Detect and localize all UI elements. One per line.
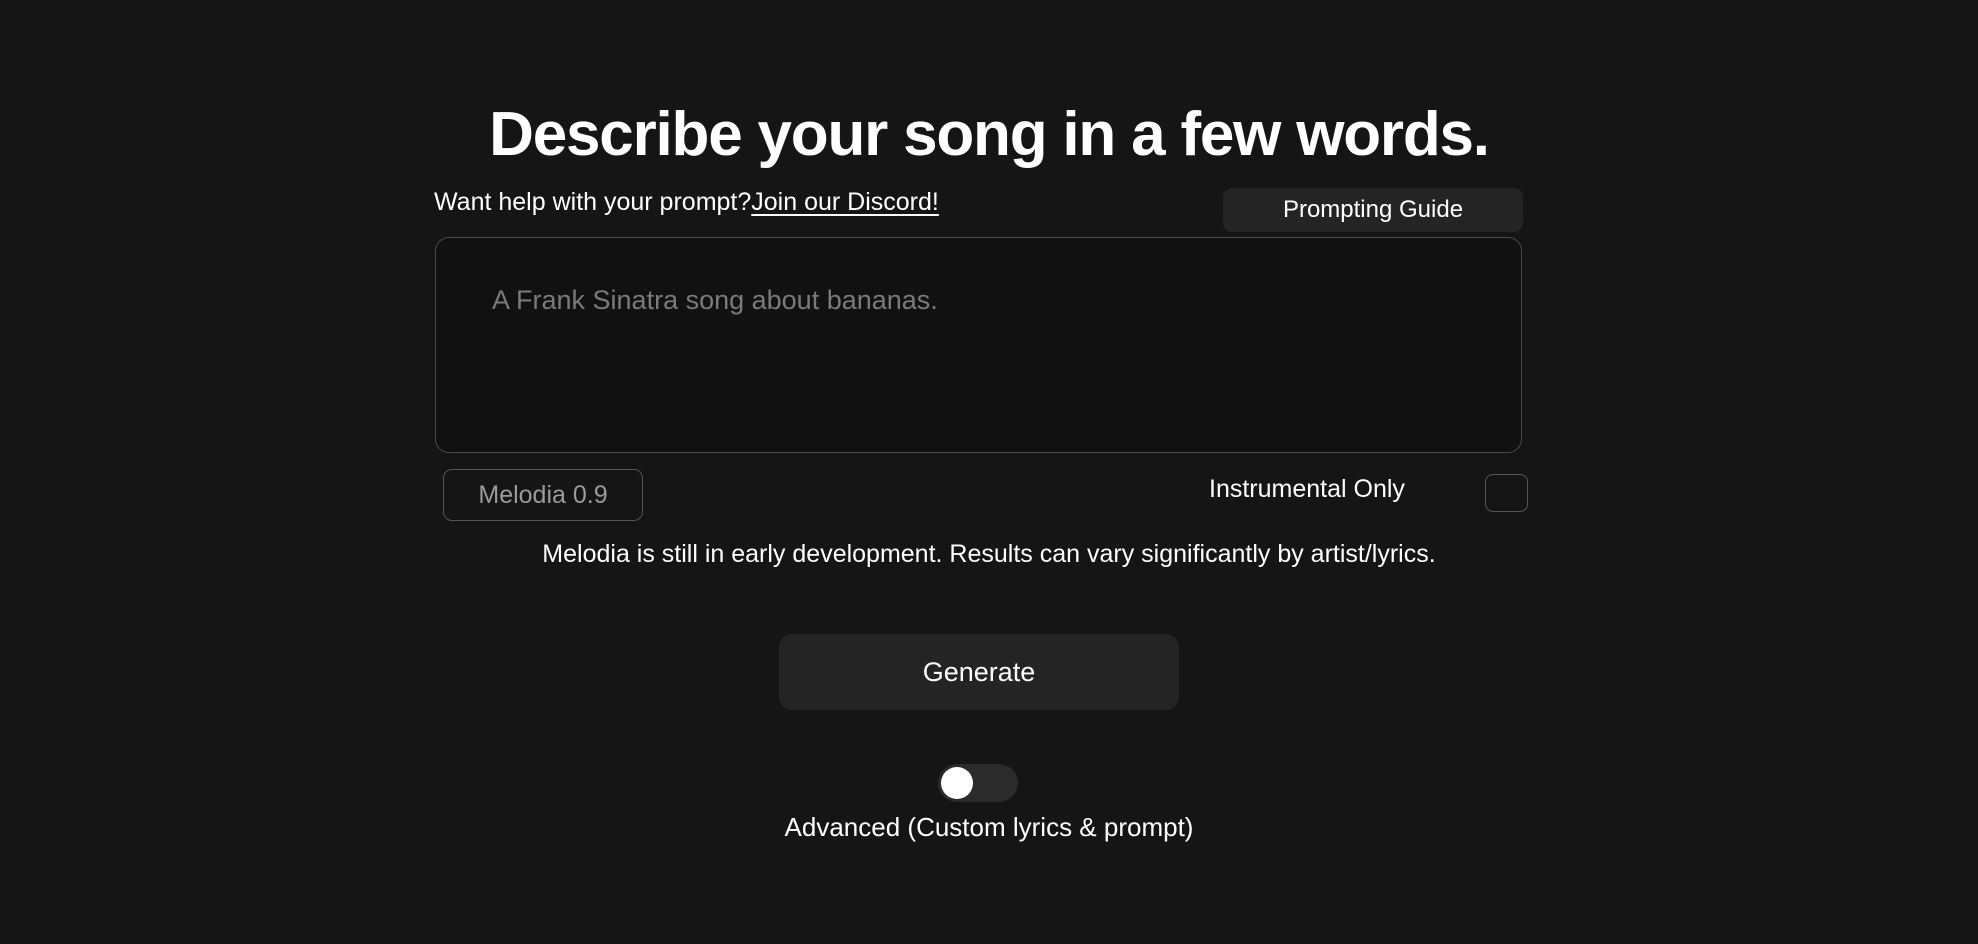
- app-root: Describe your song in a few words. Want …: [0, 0, 1978, 944]
- generate-button[interactable]: Generate: [779, 634, 1179, 710]
- toggle-knob-icon: [941, 767, 973, 799]
- prompting-guide-button[interactable]: Prompting Guide: [1223, 188, 1523, 232]
- model-selector-button[interactable]: Melodia 0.9: [443, 469, 643, 521]
- page-title: Describe your song in a few words.: [0, 104, 1978, 166]
- instrumental-only-checkbox[interactable]: [1485, 474, 1528, 512]
- join-discord-link[interactable]: Join our Discord!: [751, 190, 939, 215]
- advanced-mode-label: Advanced (Custom lyrics & prompt): [0, 814, 1978, 840]
- prompt-help-row: Want help with your prompt? Join our Dis…: [434, 190, 939, 215]
- advanced-mode-toggle[interactable]: [938, 764, 1018, 802]
- model-disclaimer-text: Melodia is still in early development. R…: [0, 542, 1978, 567]
- song-prompt-input[interactable]: [435, 237, 1522, 453]
- prompt-help-text: Want help with your prompt?: [434, 190, 751, 215]
- instrumental-only-label: Instrumental Only: [1209, 477, 1405, 502]
